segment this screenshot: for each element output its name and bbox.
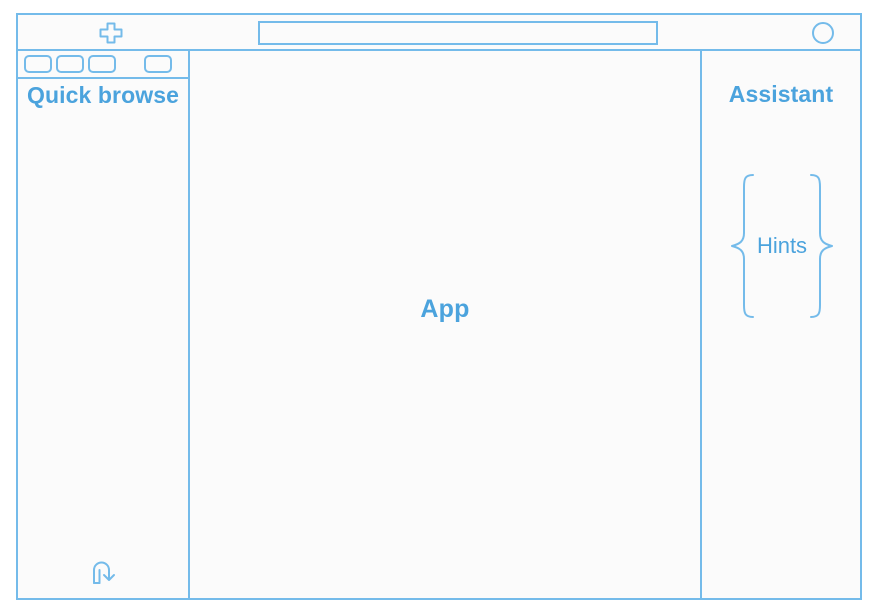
sidebar-tabstrip — [18, 51, 188, 79]
sidebar-item-tab-chip-3[interactable] — [88, 55, 116, 73]
browser-window-frame: Quick browse App Assistant — [16, 13, 862, 600]
assistant-panel: Assistant Hints — [700, 51, 860, 598]
browser-chrome-bar — [18, 15, 860, 51]
address-input[interactable] — [258, 21, 658, 45]
window-body: Quick browse App Assistant — [18, 51, 860, 598]
u-turn-arrow-icon[interactable] — [90, 558, 120, 586]
plus-icon[interactable] — [98, 22, 124, 44]
app-label: App — [420, 295, 469, 324]
right-curly-brace-icon — [809, 173, 835, 319]
sidebar-item-tab-chip-2[interactable] — [56, 55, 84, 73]
left-curly-brace-icon — [729, 173, 755, 319]
quick-browse-sidebar: Quick browse — [18, 51, 190, 598]
hints-group: Hints — [712, 173, 852, 319]
hints-label: Hints — [755, 233, 809, 259]
sidebar-title: Quick browse — [18, 81, 188, 110]
app-content-region: App — [190, 51, 700, 598]
sidebar-item-tab-chip-4[interactable] — [144, 55, 172, 73]
sidebar-item-tab-chip-1[interactable] — [24, 55, 52, 73]
account-circle-icon[interactable] — [812, 22, 834, 44]
assistant-title: Assistant — [702, 81, 860, 108]
